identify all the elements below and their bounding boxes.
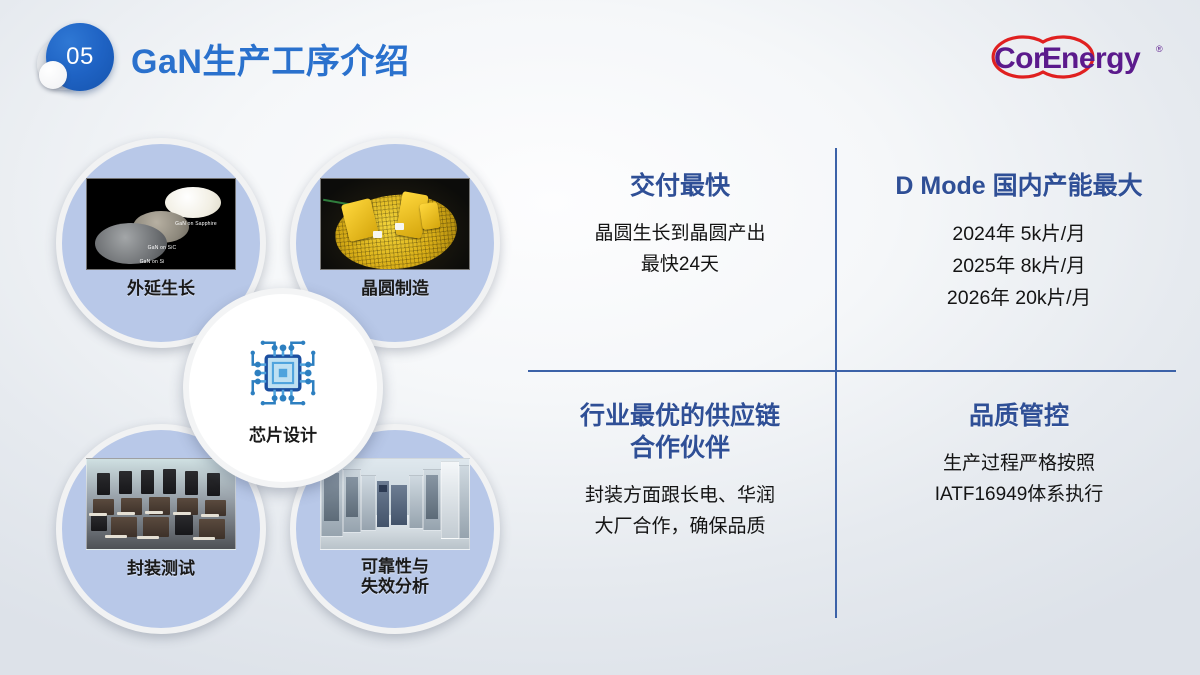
package-lead bbox=[145, 511, 163, 514]
svg-text:®: ® bbox=[1156, 44, 1163, 54]
quadrant-title-fastest-delivery: 交付最快 bbox=[530, 170, 830, 202]
probe-arm-3 bbox=[419, 202, 440, 230]
section-number-badge: 05 bbox=[33, 20, 121, 100]
quadrant-line: 大厂合作，确保品质 bbox=[530, 511, 830, 542]
lab-cabinet bbox=[441, 461, 459, 539]
quadrant-line: 生产过程严格按照 bbox=[869, 448, 1169, 479]
package-body bbox=[91, 515, 107, 531]
corenergy-logo: Cor E nergy ® bbox=[988, 26, 1178, 88]
quadrant-title-line2: 合作伙伴 bbox=[530, 432, 830, 464]
lab-cabinet bbox=[409, 475, 423, 529]
lab-unit-screen bbox=[379, 485, 387, 492]
quadrant-fastest-delivery: 交付最快 晶圆生长到晶圆产出 最快24天 bbox=[530, 170, 830, 281]
quadrant-line: 2025年 8k片/月 bbox=[869, 250, 1169, 282]
petal-label-reliability-line2: 失效分析 bbox=[361, 577, 429, 597]
page-title: GaN生产工序介绍 bbox=[131, 34, 409, 83]
package-body bbox=[97, 473, 110, 495]
petal-label-epitaxy: 外延生长 bbox=[127, 279, 195, 299]
quadrant-body-fastest-delivery: 晶圆生长到晶圆产出 最快24天 bbox=[530, 218, 830, 281]
corenergy-logo-svg: Cor E nergy ® bbox=[988, 26, 1178, 88]
packaging-test-thumbnail bbox=[86, 458, 236, 550]
lab-cabinet-door bbox=[346, 477, 358, 517]
svg-text:Cor: Cor bbox=[994, 42, 1045, 75]
package-lead bbox=[173, 512, 191, 515]
slide-canvas: 05 GaN生产工序介绍 Cor E nergy ® GaN on Sapp bbox=[0, 0, 1200, 675]
caption-gan-on-si: GaN on Si bbox=[129, 259, 175, 265]
quadrant-line: IATF16949体系执行 bbox=[869, 479, 1169, 510]
quadrant-d-mode-capacity: D Mode 国内产能最大 2024年 5k片/月 2025年 8k片/月 20… bbox=[869, 170, 1169, 315]
wafer-fab-thumbnail bbox=[320, 178, 470, 270]
package-lead bbox=[105, 535, 127, 538]
horizontal-divider bbox=[528, 370, 1176, 372]
package-body bbox=[119, 471, 132, 494]
package-body bbox=[185, 471, 198, 495]
quadrant-line: 最快24天 bbox=[530, 249, 830, 280]
svg-text:nergy: nergy bbox=[1061, 42, 1141, 75]
lab-cabinet-door bbox=[426, 475, 438, 519]
package-body bbox=[141, 470, 154, 494]
package-lead bbox=[117, 512, 135, 515]
caption-gan-on-sic: GaN on SiC bbox=[139, 245, 185, 251]
lab-cabinet-door bbox=[324, 473, 339, 521]
package-body bbox=[175, 515, 193, 535]
lab-unit bbox=[391, 485, 407, 525]
lab-cabinet bbox=[361, 475, 376, 531]
quadrant-line: 晶圆生长到晶圆产出 bbox=[530, 218, 830, 249]
vertical-divider bbox=[835, 148, 837, 618]
slide-header: 05 GaN生产工序介绍 Cor E nergy ® bbox=[0, 0, 1200, 108]
lab-cabinet bbox=[459, 465, 470, 539]
package-lead bbox=[201, 514, 219, 517]
wafer-si-shape bbox=[95, 223, 167, 264]
petal-label-reliability-line1: 可靠性与 bbox=[361, 557, 429, 577]
quadrant-line: 2026年 20k片/月 bbox=[869, 282, 1169, 314]
diagram-center-hub[interactable]: 芯片设计 bbox=[183, 288, 383, 488]
epitaxy-thumbnail: GaN on Sapphire GaN on SiC GaN on Si bbox=[86, 178, 236, 270]
quadrant-body-best-supply-chain: 封装方面跟长电、华润 大厂合作，确保品质 bbox=[530, 480, 830, 543]
package-lead bbox=[137, 536, 159, 539]
quadrant-body-quality-control: 生产过程严格按照 IATF16949体系执行 bbox=[869, 448, 1169, 511]
package-base bbox=[111, 517, 137, 537]
petal-label-wafer-fab: 晶圆制造 bbox=[361, 279, 429, 299]
process-flow-diagram: GaN on Sapphire GaN on SiC GaN on Si 外延生… bbox=[48, 128, 508, 648]
quadrant-title-best-supply-chain: 行业最优的供应链 合作伙伴 bbox=[530, 400, 830, 464]
quadrant-line: 2024年 5k片/月 bbox=[869, 218, 1169, 250]
badge-white-dot bbox=[39, 61, 67, 89]
quadrant-best-supply-chain: 行业最优的供应链 合作伙伴 封装方面跟长电、华润 大厂合作，确保品质 bbox=[530, 400, 830, 543]
package-body bbox=[207, 473, 220, 496]
caption-gan-on-sapphire: GaN on Sapphire bbox=[173, 221, 219, 227]
microchip-icon bbox=[241, 331, 325, 415]
probe-tip-1 bbox=[373, 231, 382, 238]
package-lead bbox=[89, 513, 107, 516]
package-base bbox=[199, 519, 225, 539]
package-body bbox=[163, 469, 176, 494]
reliability-lab-thumbnail bbox=[320, 458, 470, 550]
quadrant-title-d-mode-capacity: D Mode 国内产能最大 bbox=[869, 170, 1169, 202]
quadrant-quality-control: 品质管控 生产过程严格按照 IATF16949体系执行 bbox=[869, 400, 1169, 511]
package-base bbox=[143, 517, 169, 537]
svg-text:E: E bbox=[1042, 42, 1062, 75]
package-lead bbox=[193, 537, 215, 540]
petal-label-packaging-test: 封装测试 bbox=[127, 559, 195, 579]
quadrant-line: 封装方面跟长电、华润 bbox=[530, 480, 830, 511]
highlights-grid: 交付最快 晶圆生长到晶圆产出 最快24天 D Mode 国内产能最大 2024年… bbox=[528, 148, 1176, 618]
quadrant-body-d-mode-capacity: 2024年 5k片/月 2025年 8k片/月 2026年 20k片/月 bbox=[869, 218, 1169, 315]
petal-label-reliability: 可靠性与 失效分析 bbox=[361, 557, 429, 596]
quadrant-title-line1: 行业最优的供应链 bbox=[530, 400, 830, 432]
hub-label: 芯片设计 bbox=[249, 421, 317, 446]
quadrant-title-quality-control: 品质管控 bbox=[869, 400, 1169, 432]
badge-number-text: 05 bbox=[66, 45, 94, 69]
probe-tip-2 bbox=[395, 223, 404, 230]
